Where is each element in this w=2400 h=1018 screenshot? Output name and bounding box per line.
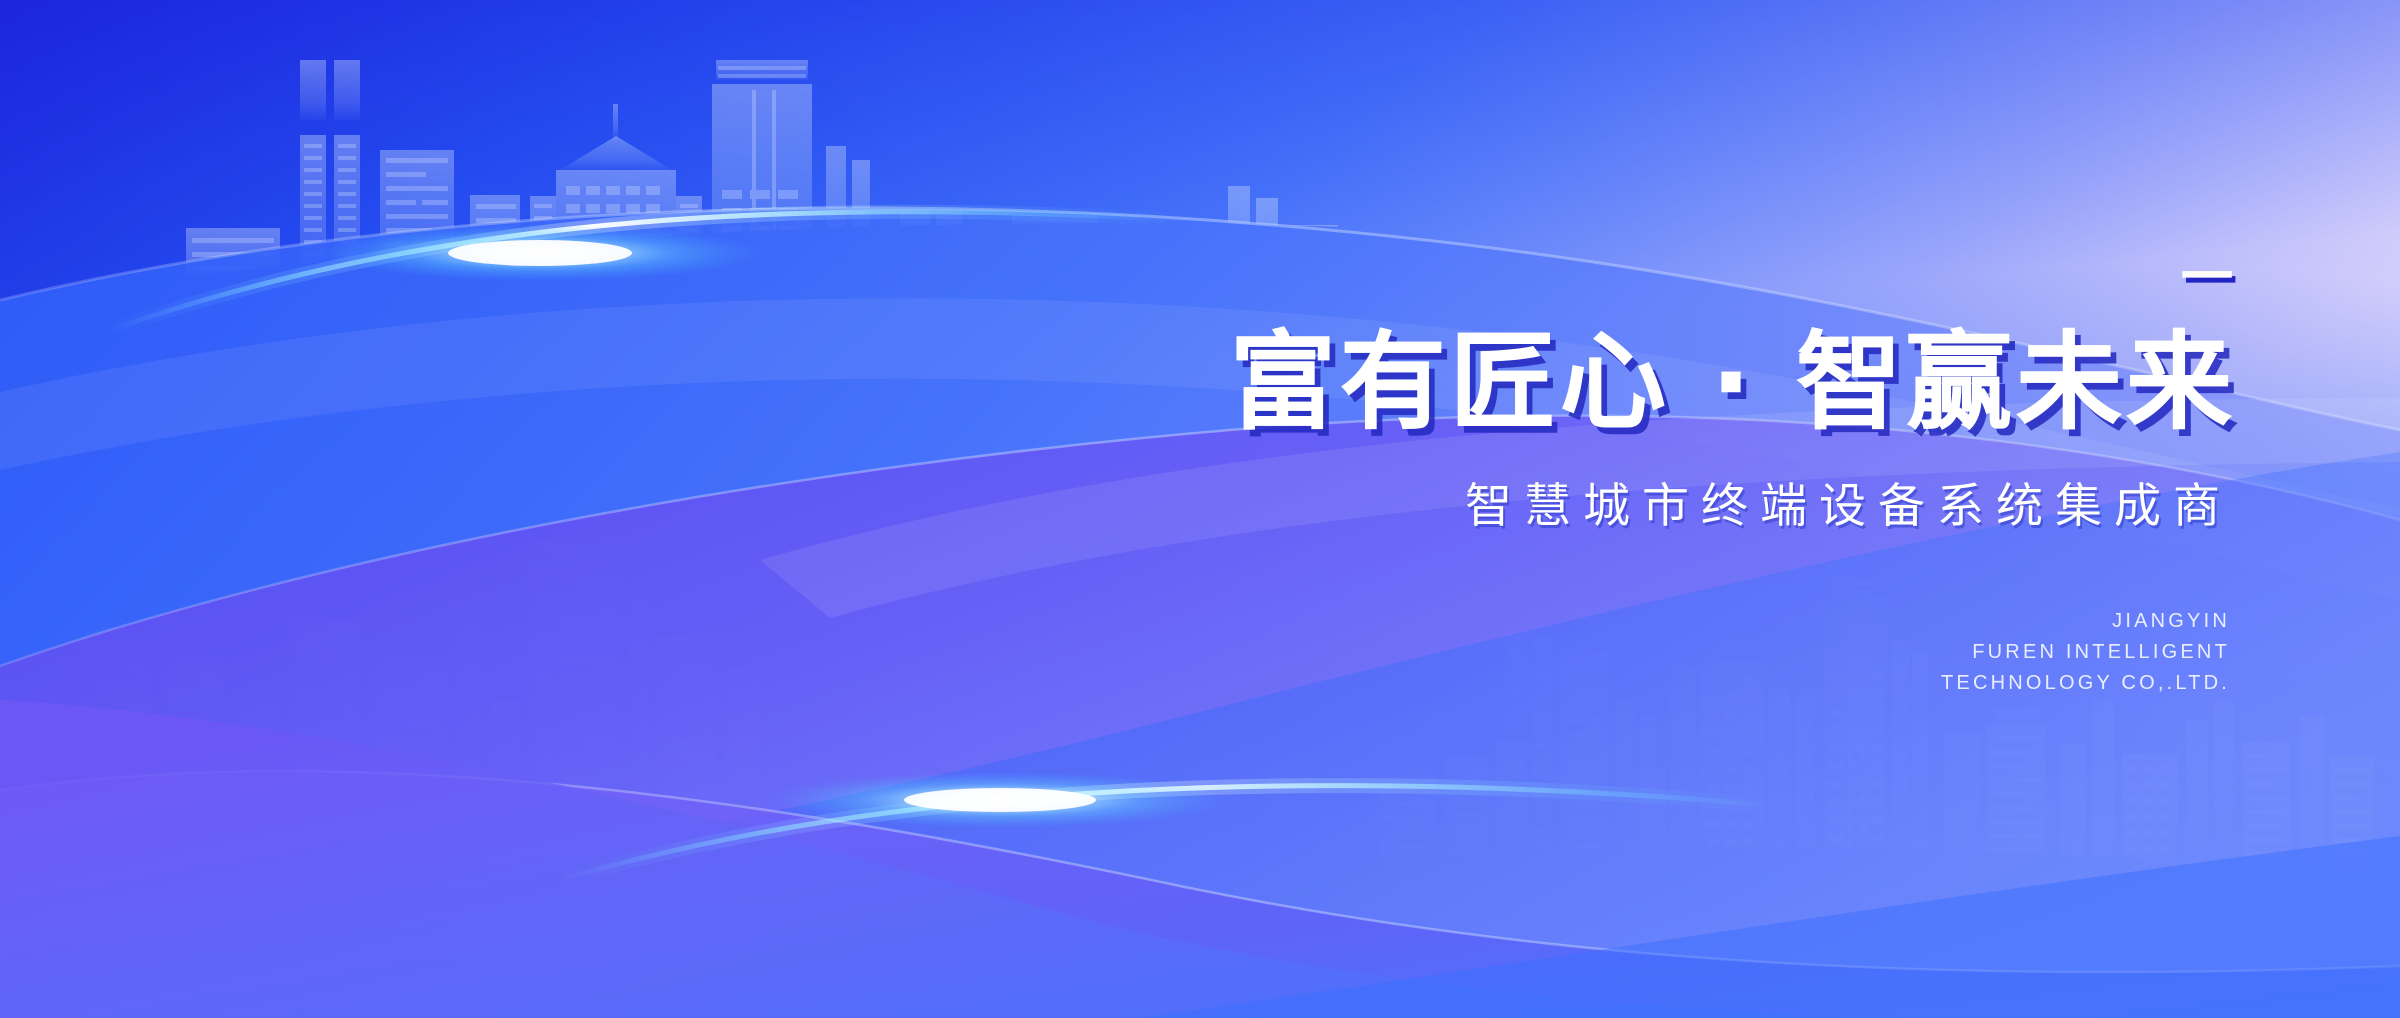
banner-text-block: 一 富有匠心 · 智赢未来 智慧城市终端设备系统集成商 JIANGYIN FUR… xyxy=(1036,250,2236,699)
company-line-3: TECHNOLOGY CO,.LTD. xyxy=(1036,668,2230,699)
company-line-1: JIANGYIN xyxy=(1036,606,2230,637)
decor-dash-mark: 一 xyxy=(2181,250,2233,304)
promotional-banner: 一 富有匠心 · 智赢未来 智慧城市终端设备系统集成商 JIANGYIN FUR… xyxy=(0,0,2400,1018)
banner-subtitle: 智慧城市终端设备系统集成商 xyxy=(1036,467,2236,536)
banner-title: 富有匠心 · 智赢未来 xyxy=(1036,322,2236,445)
company-name-block: JIANGYIN FUREN INTELLIGENT TECHNOLOGY CO… xyxy=(1036,606,2236,699)
decor-dash-row: 一 xyxy=(1036,250,2236,304)
company-line-2: FUREN INTELLIGENT xyxy=(1036,637,2230,668)
